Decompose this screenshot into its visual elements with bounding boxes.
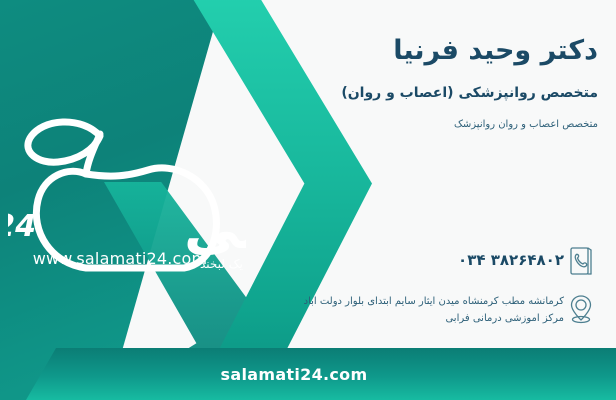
doctor-specialty: متخصص روانپزشکی (اعصاب و روان) [228, 84, 598, 104]
page-title: دکتر وحید فرنیا [228, 34, 598, 68]
map-pin-icon [564, 291, 598, 327]
phone-number[interactable]: ۳۸۲۶۴۸۰۲ ۰۳۴ [222, 246, 564, 269]
footer-site-link[interactable]: salamati24.com [221, 365, 396, 384]
phone-text-wrap: ۳۸۲۶۴۸۰۲ ۰۳۴ [218, 243, 564, 269]
logo-website-url[interactable]: www.salamati24.com [10, 249, 230, 268]
svg-text:24: 24 [8, 209, 36, 244]
contact-block: ۳۸۲۶۴۸۰۲ ۰۳۴ کرمانشه مطب کرمنشاه میدن ای… [218, 243, 598, 339]
doctor-specialty-sub: متخصص اعصاب و روان روانپزشک [228, 117, 598, 132]
footer-bar: salamati24.com [0, 348, 616, 400]
contact-row-phone[interactable]: ۳۸۲۶۴۸۰۲ ۰۳۴ [218, 243, 598, 279]
address-line-2: مرکز اموزشی درمانی فرابی [222, 311, 564, 328]
business-card: سلامتی 24 به راحتی یک لبخند www.salamati… [0, 0, 616, 400]
logo-24-badge: 24 [8, 209, 36, 244]
address-line-1: کرمانشه مطب کرمنشاه میدن ایثار سایم ابتد… [222, 294, 564, 311]
doctor-info: دکتر وحید فرنیا متخصص روانپزشکی (اعصاب و… [228, 34, 598, 132]
address-text-wrap: کرمانشه مطب کرمنشاه میدن ایثار سایم ابتد… [218, 291, 564, 327]
contact-row-address[interactable]: کرمانشه مطب کرمنشاه میدن ایثار سایم ابتد… [218, 291, 598, 327]
phone-book-icon [564, 243, 598, 279]
